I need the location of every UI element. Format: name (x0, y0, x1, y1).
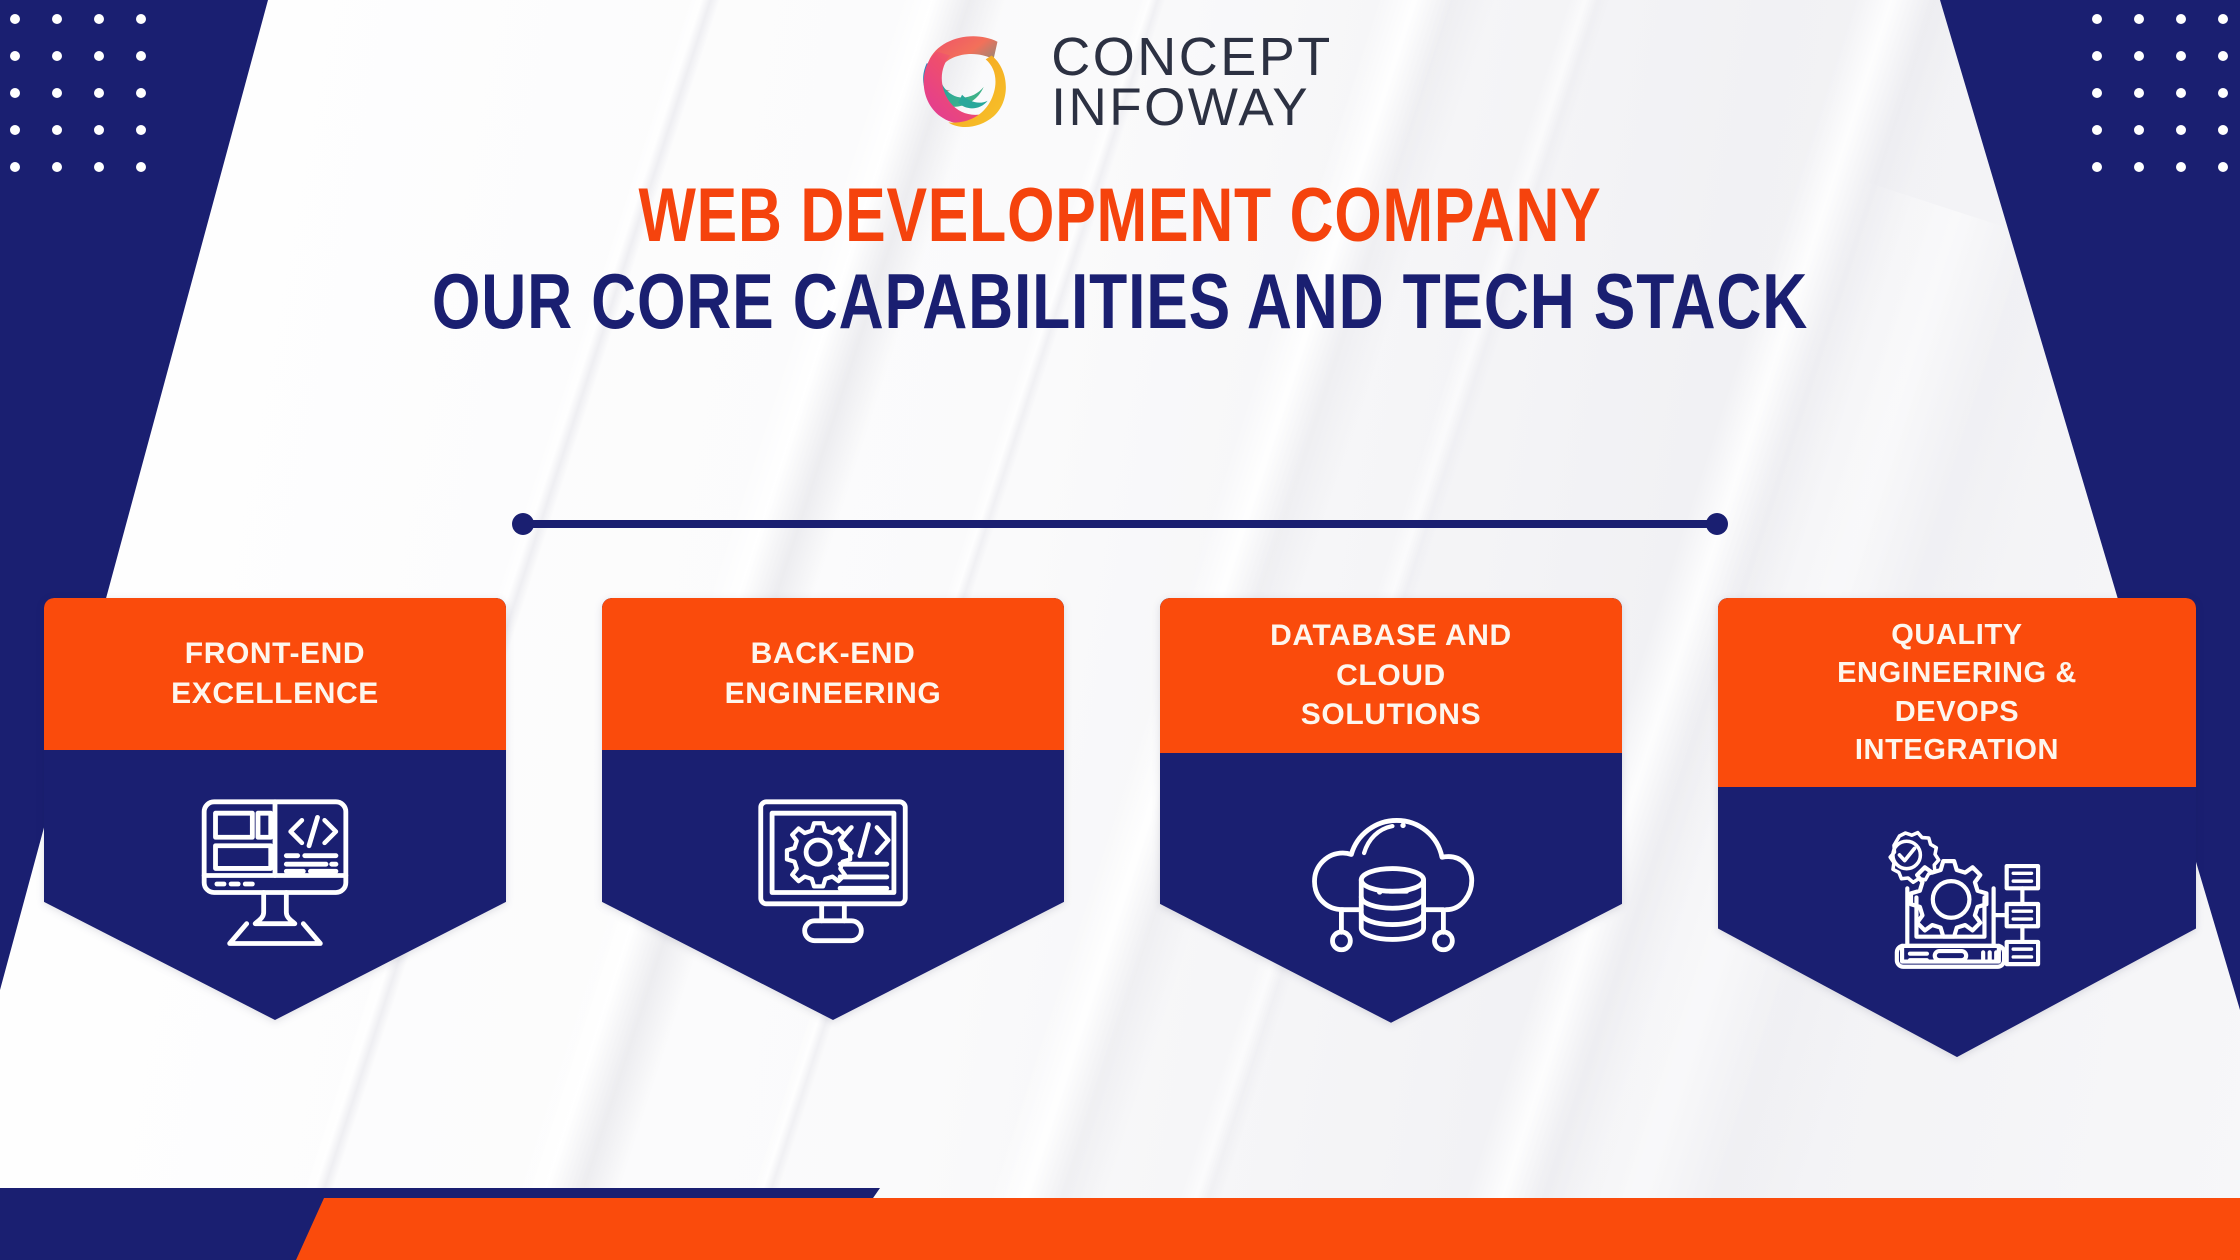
card-title-line: DEVOPS (1837, 693, 2077, 731)
brand-name-line2: INFOWAY (1051, 83, 1310, 134)
card-title-line: BACK-END (725, 634, 942, 674)
card-title-line: ENGINEERING (725, 674, 942, 714)
brand-name: CONCEPT INFOWAY (1051, 32, 1333, 135)
card-title-line: FRONT-END (171, 634, 379, 674)
card-title: QUALITY ENGINEERING & DEVOPS INTEGRATION (1718, 598, 2196, 787)
card-title-line: ENGINEERING & (1837, 654, 2077, 692)
capability-card-database-cloud[interactable]: DATABASE AND CLOUD SOLUTIONS (1160, 598, 1622, 1057)
header: CONCEPT INFOWAY WEB DEVELOPMENT COMPANY … (0, 0, 2240, 340)
card-title-line: QUALITY (1837, 616, 2077, 654)
laptop-gear-quality-badge-flowchart-icon (1872, 819, 2042, 989)
poster-canvas: CONCEPT INFOWAY WEB DEVELOPMENT COMPANY … (0, 0, 2240, 1260)
card-icon-area (1718, 787, 2196, 1057)
card-icon-area (1160, 753, 1622, 1023)
capability-cards: FRONT-END EXCELLENCE (0, 598, 2240, 1057)
brand-name-line1: CONCEPT (1051, 32, 1333, 84)
card-icon-area (44, 750, 506, 1020)
page-title: WEB DEVELOPMENT COMPANY (224, 178, 2016, 254)
card-title-line: DATABASE AND (1270, 616, 1512, 656)
divider-cap-right (1706, 513, 1728, 535)
card-title-line: INTEGRATION (1837, 731, 2077, 769)
card-title-line: CLOUD (1270, 656, 1512, 696)
card-title: BACK-END ENGINEERING (602, 598, 1064, 750)
brand-logo: CONCEPT INFOWAY (0, 0, 2240, 142)
card-title-line: EXCELLENCE (171, 674, 379, 714)
divider-cap-left (512, 513, 534, 535)
concept-infoway-swirl-logo (907, 24, 1025, 142)
card-title: DATABASE AND CLOUD SOLUTIONS (1160, 598, 1622, 753)
divider (0, 520, 2240, 528)
monitor-gear-code-icon (748, 782, 918, 952)
footer-orange-bar (0, 1198, 2240, 1260)
card-icon-area (602, 750, 1064, 1020)
cloud-database-network-icon (1306, 785, 1476, 955)
card-title: FRONT-END EXCELLENCE (44, 598, 506, 750)
capability-card-back-end[interactable]: BACK-END ENGINEERING (602, 598, 1064, 1057)
monitor-code-layout-icon (190, 782, 360, 952)
card-title-line: SOLUTIONS (1270, 695, 1512, 735)
capability-card-quality-devops[interactable]: QUALITY ENGINEERING & DEVOPS INTEGRATION (1718, 598, 2196, 1057)
page-subtitle: OUR CORE CAPABILITIES AND TECH STACK (224, 262, 2016, 340)
capability-card-front-end[interactable]: FRONT-END EXCELLENCE (44, 598, 506, 1057)
